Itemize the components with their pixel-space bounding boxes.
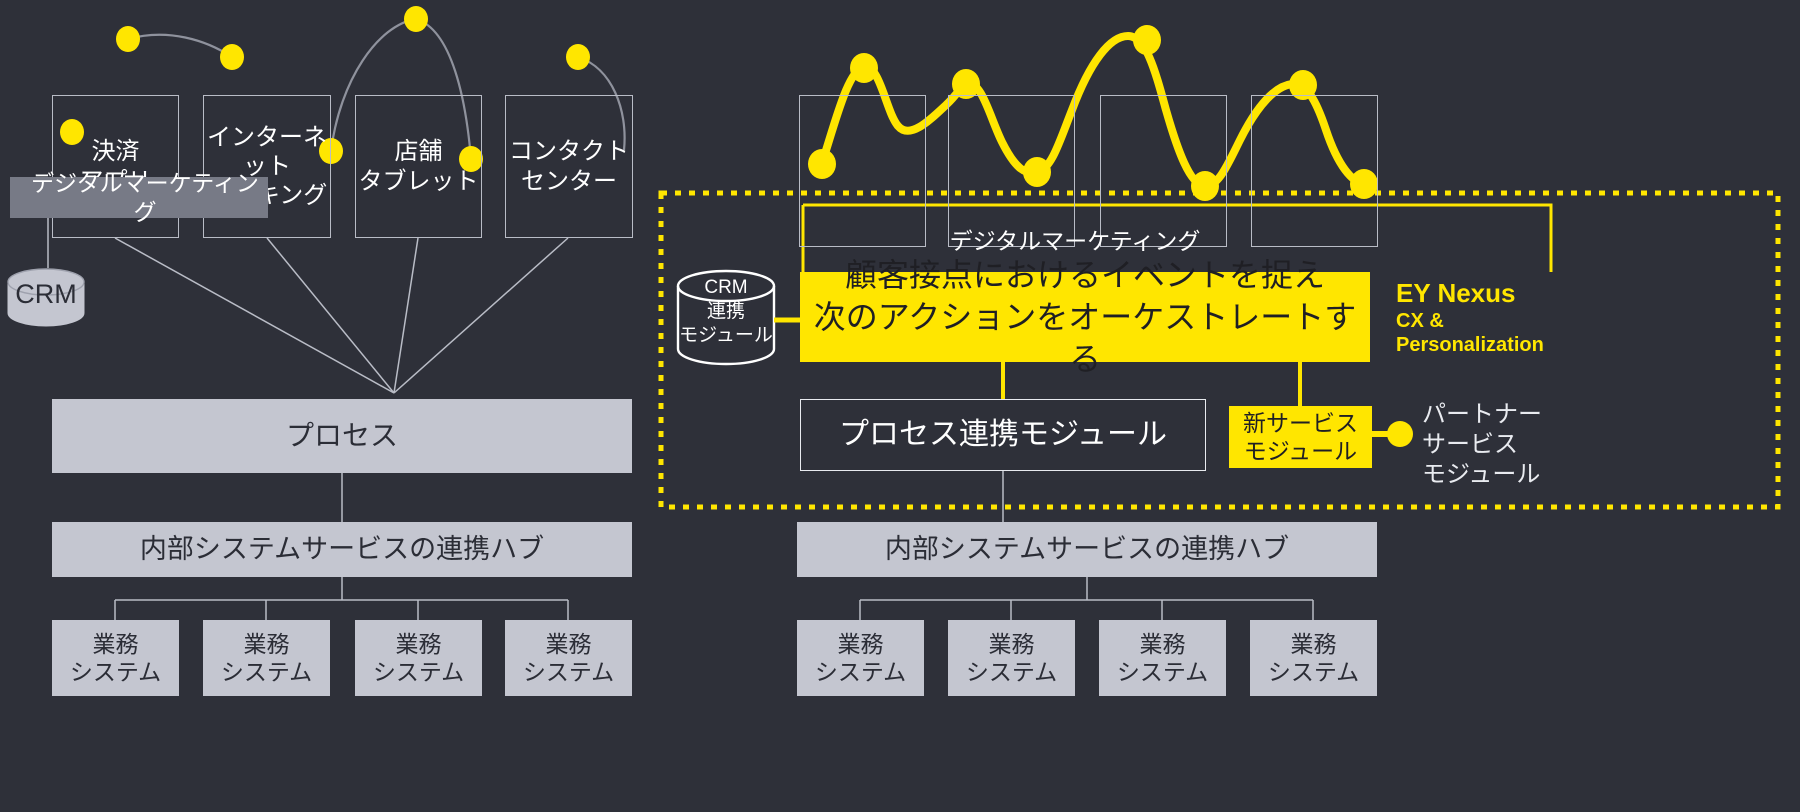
- system-label-line2: システム: [1268, 659, 1359, 685]
- system-label-line2: システム: [70, 659, 161, 685]
- process-box-left[interactable]: プロセス: [52, 399, 632, 473]
- touchpoint-label-line2: タブレット: [359, 168, 479, 195]
- system-box[interactable]: 業務 システム: [797, 620, 924, 696]
- system-label-line1: 業務: [989, 631, 1035, 657]
- integration-hub-label: 内部システムサービスの連携ハブ: [885, 533, 1289, 566]
- diagram-canvas: 決済 アプリ インターネット バンキング 店舗 タブレット コンタクト センター…: [0, 0, 1800, 812]
- partner-line3: モジュール: [1422, 461, 1540, 488]
- system-label-line1: 業務: [396, 631, 442, 657]
- system-box[interactable]: 業務 システム: [52, 620, 179, 696]
- digital-marketing-label-right: デジタルマーケティング: [900, 225, 1250, 257]
- touchpoint-label-line1: コンタクト: [509, 138, 629, 165]
- touchpoint-label-line1: 決済: [92, 138, 140, 165]
- system-label-line2: システム: [815, 659, 906, 685]
- digital-marketing-strip-left[interactable]: デジタルマーケティング: [10, 177, 268, 218]
- system-label-line1: 業務: [546, 631, 592, 657]
- ey-nexus-subtitle-line1: CX &: [1396, 309, 1544, 333]
- system-label-line2: システム: [523, 659, 614, 685]
- integration-hub-left[interactable]: 内部システムサービスの連携ハブ: [52, 522, 632, 577]
- touchpoint-box-right-4[interactable]: [1251, 95, 1378, 247]
- crm-module-label-right: CRM 連携 モジュール: [678, 276, 774, 347]
- touchpoint-box-store-tablet[interactable]: 店舗 タブレット: [355, 95, 482, 238]
- new-service-line1: 新サービス: [1243, 410, 1358, 436]
- partner-line1: パートナー: [1422, 401, 1542, 428]
- process-link-module-label: プロセス連携モジュール: [839, 417, 1167, 454]
- process-link-module[interactable]: プロセス連携モジュール: [800, 399, 1206, 471]
- system-box[interactable]: 業務 システム: [1250, 620, 1377, 696]
- orchestration-line1: 顧客接点におけるイベントを捉え: [845, 257, 1325, 293]
- touchpoint-label-line1: 店舗: [395, 138, 443, 165]
- system-label-line2: システム: [1117, 659, 1208, 685]
- touchpoint-label-line2: センター: [521, 168, 617, 195]
- ey-nexus-title: EY Nexus: [1396, 278, 1544, 309]
- system-label-line1: 業務: [838, 631, 884, 657]
- touchpoint-box-contact-center[interactable]: コンタクト センター: [505, 95, 633, 238]
- ey-nexus-title-block: EY Nexus CX & Personalization: [1396, 278, 1626, 364]
- process-label: プロセス: [286, 419, 398, 453]
- partner-line2: サービス: [1422, 431, 1518, 458]
- system-box[interactable]: 業務 システム: [203, 620, 330, 696]
- system-box[interactable]: 業務 システム: [1099, 620, 1226, 696]
- ey-nexus-subtitle-line2: Personalization: [1396, 333, 1544, 357]
- system-label-line2: システム: [221, 659, 312, 685]
- system-box[interactable]: 業務 システム: [948, 620, 1075, 696]
- system-box[interactable]: 業務 システム: [355, 620, 482, 696]
- system-label-line2: システム: [966, 659, 1057, 685]
- new-service-module[interactable]: 新サービス モジュール: [1229, 406, 1372, 468]
- integration-hub-right[interactable]: 内部システムサービスの連携ハブ: [797, 522, 1377, 577]
- partner-service-module-label: パートナー サービス モジュール: [1414, 395, 1614, 495]
- digital-marketing-label: デジタルマーケティング: [22, 169, 268, 225]
- system-label-line1: 業務: [1291, 631, 1337, 657]
- system-label-line2: システム: [373, 659, 464, 685]
- system-label-line1: 業務: [244, 631, 290, 657]
- orchestration-box[interactable]: 顧客接点におけるイベントを捉え 次のアクションをオーケストレートする: [800, 272, 1370, 362]
- system-label-line1: 業務: [93, 631, 139, 657]
- system-box[interactable]: 業務 システム: [505, 620, 632, 696]
- orchestration-line2: 次のアクションをオーケストレートする: [814, 299, 1356, 377]
- crm-cylinder-label-left: CRM: [8, 278, 84, 312]
- integration-hub-label: 内部システムサービスの連携ハブ: [140, 533, 544, 566]
- new-service-line2: モジュール: [1244, 438, 1357, 464]
- system-label-line1: 業務: [1140, 631, 1186, 657]
